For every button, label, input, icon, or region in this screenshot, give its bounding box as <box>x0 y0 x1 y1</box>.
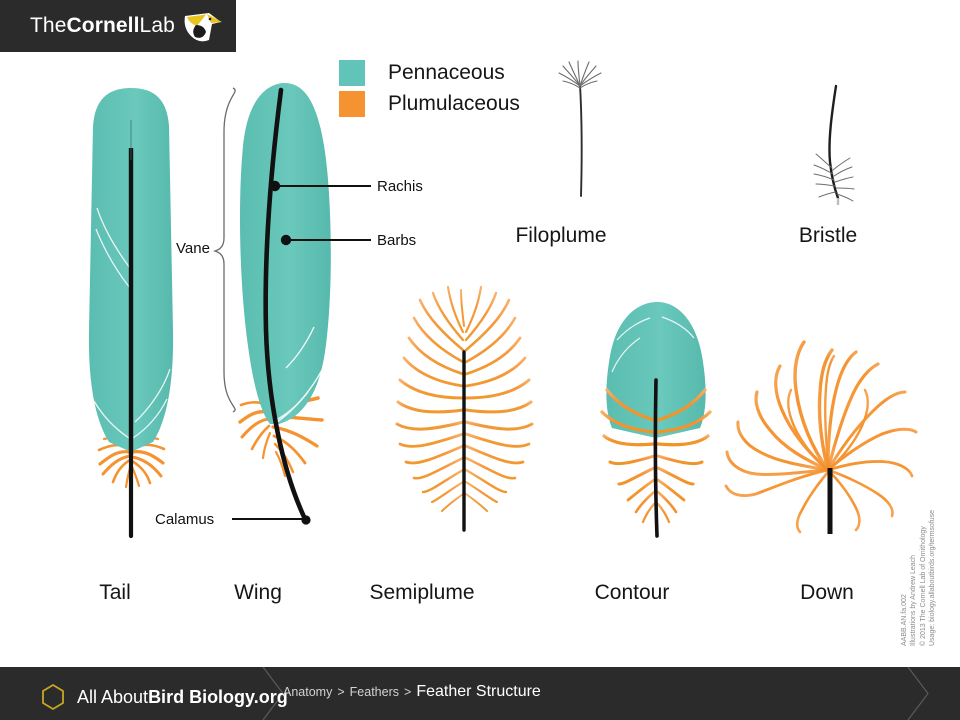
footer-brand-prefix: All About <box>77 687 148 708</box>
credit-line-id: AABB.AN.fa.002 <box>900 476 909 646</box>
down-barbs <box>726 342 916 532</box>
callout-calamus: Calamus <box>155 511 214 528</box>
vane-brace <box>215 88 235 412</box>
caption-contour: Contour <box>595 581 670 605</box>
caption-down: Down <box>800 581 854 605</box>
caption-filoplume: Filoplume <box>515 224 606 248</box>
callout-barbs: Barbs <box>377 232 416 249</box>
feather-down <box>726 342 916 534</box>
bristle-basal-barbs <box>814 154 854 201</box>
callout-rachis: Rachis <box>377 178 423 195</box>
feather-contour <box>602 302 710 536</box>
feather-wing <box>215 83 331 525</box>
footer-brand-link[interactable]: All About Bird Biology.org <box>40 683 288 711</box>
credit-block: AABB.AN.fa.002 Illustrations by Andrew L… <box>900 476 937 646</box>
caption-semiplume: Semiplume <box>369 581 474 605</box>
breadcrumb-separator-1: > <box>337 685 344 699</box>
feather-bristle <box>814 86 854 205</box>
contour-rachis <box>655 380 657 536</box>
feather-tail <box>89 88 173 536</box>
breadcrumb: Anatomy > Feathers > Feather Structure <box>283 683 541 701</box>
filoplume-shaft <box>580 85 582 196</box>
callout-vane: Vane <box>176 240 210 257</box>
breadcrumb-current: Feather Structure <box>416 683 541 701</box>
breadcrumb-anatomy[interactable]: Anatomy <box>283 685 332 699</box>
wing-calamus-end <box>301 515 310 524</box>
footer-brand-bold: Bird Biology.org <box>148 687 288 708</box>
caption-wing: Wing <box>234 581 282 605</box>
hexagon-icon <box>40 683 66 711</box>
caption-bristle: Bristle <box>799 224 857 248</box>
chevron-separator-right-icon <box>898 667 938 720</box>
credit-line-copyright: © 2013 The Cornell Lab of Ornithology <box>919 476 928 646</box>
caption-tail: Tail <box>99 581 131 605</box>
feather-illustrations <box>0 0 960 660</box>
breadcrumb-separator-2: > <box>404 685 411 699</box>
footer-bar: All About Bird Biology.org Anatomy > Fea… <box>0 667 960 720</box>
feather-filoplume <box>559 61 601 196</box>
credit-line-usage: Usage: biology.allaboutbirds.org/termsof… <box>928 476 937 646</box>
wing-vane <box>240 83 331 424</box>
breadcrumb-feathers[interactable]: Feathers <box>350 685 399 699</box>
credit-line-illustrator: Illustrations by Andrew Leach <box>909 476 918 646</box>
feather-semiplume <box>397 287 532 530</box>
filoplume-tuft-barbs <box>559 61 601 88</box>
infographic-canvas: TheCornellLab Pennaceous Plumulaceous <box>0 0 960 720</box>
